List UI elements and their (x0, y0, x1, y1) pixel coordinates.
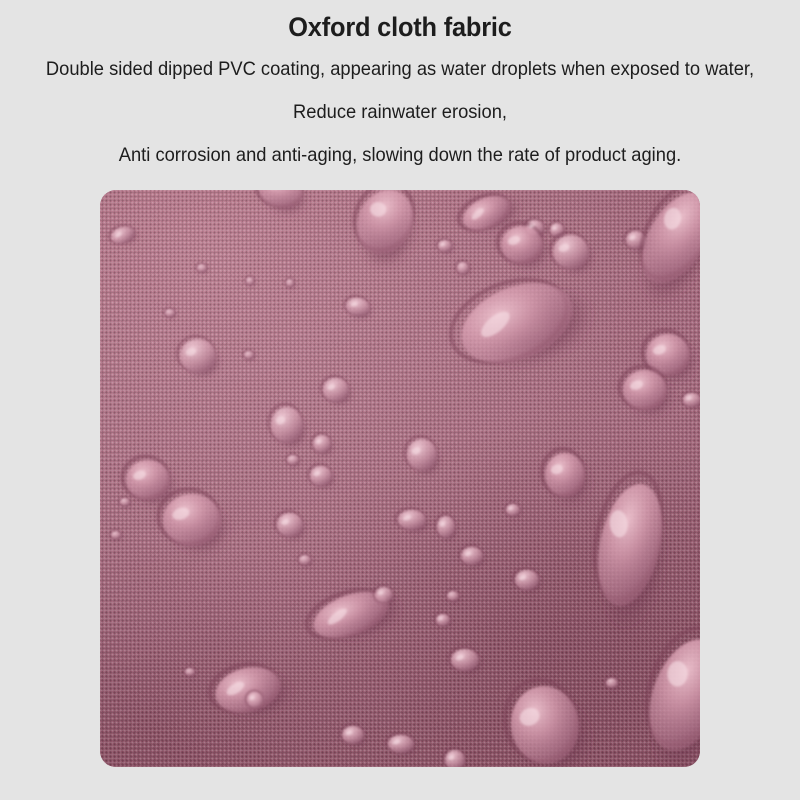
droplet-body (244, 351, 254, 359)
droplet-body (180, 339, 216, 373)
droplet-body (437, 516, 455, 538)
droplet-body (388, 735, 414, 753)
droplet-speculars (114, 190, 691, 761)
fabric-photo (100, 190, 700, 767)
droplet-body (623, 370, 667, 410)
droplet-body (506, 504, 520, 516)
droplet-body (163, 494, 221, 546)
droplet-body (165, 309, 175, 317)
droplet-body (515, 570, 539, 590)
droplet-body (277, 513, 303, 537)
droplet-body (436, 614, 450, 626)
droplet-body (111, 531, 121, 539)
droplet-body (606, 678, 618, 688)
droplet-body (447, 591, 459, 601)
description-line-2: Reduce rainwater erosion, (24, 82, 776, 125)
description-line-1: Double sided dipped PVC coating, appeari… (24, 44, 776, 82)
droplet-body (286, 279, 294, 287)
droplet-body (407, 439, 437, 471)
page-title: Oxford cloth fabric (24, 0, 776, 44)
droplet-body (310, 466, 332, 486)
water-droplet-layer (100, 190, 700, 767)
droplet-body (126, 460, 170, 500)
description-line-3: Anti corrosion and anti-aging, slowing d… (24, 125, 776, 168)
page-root: Oxford cloth fabric Double sided dipped … (0, 0, 800, 800)
droplet-body (545, 453, 585, 497)
droplet-body (246, 277, 254, 285)
droplet-body (438, 240, 452, 252)
description-block: Oxford cloth fabric Double sided dipped … (0, 0, 800, 168)
droplet-body (457, 262, 469, 274)
droplet-body (375, 587, 393, 603)
droplet-body (323, 378, 349, 402)
droplet-body (185, 668, 195, 676)
droplet-body (501, 226, 543, 264)
droplet-body (120, 498, 130, 506)
water-droplets-svg (100, 190, 700, 767)
droplet-body (342, 726, 364, 744)
droplet-body (287, 455, 299, 465)
droplet-body (271, 407, 303, 443)
droplet-body (299, 555, 311, 565)
droplet-body (313, 435, 331, 453)
droplet-bodies (107, 190, 700, 767)
droplet-body (553, 235, 589, 269)
droplet-body (398, 510, 426, 530)
droplet-body (247, 692, 263, 708)
droplet-body (197, 264, 207, 272)
droplet-body (451, 649, 479, 671)
droplet-body (461, 547, 483, 565)
